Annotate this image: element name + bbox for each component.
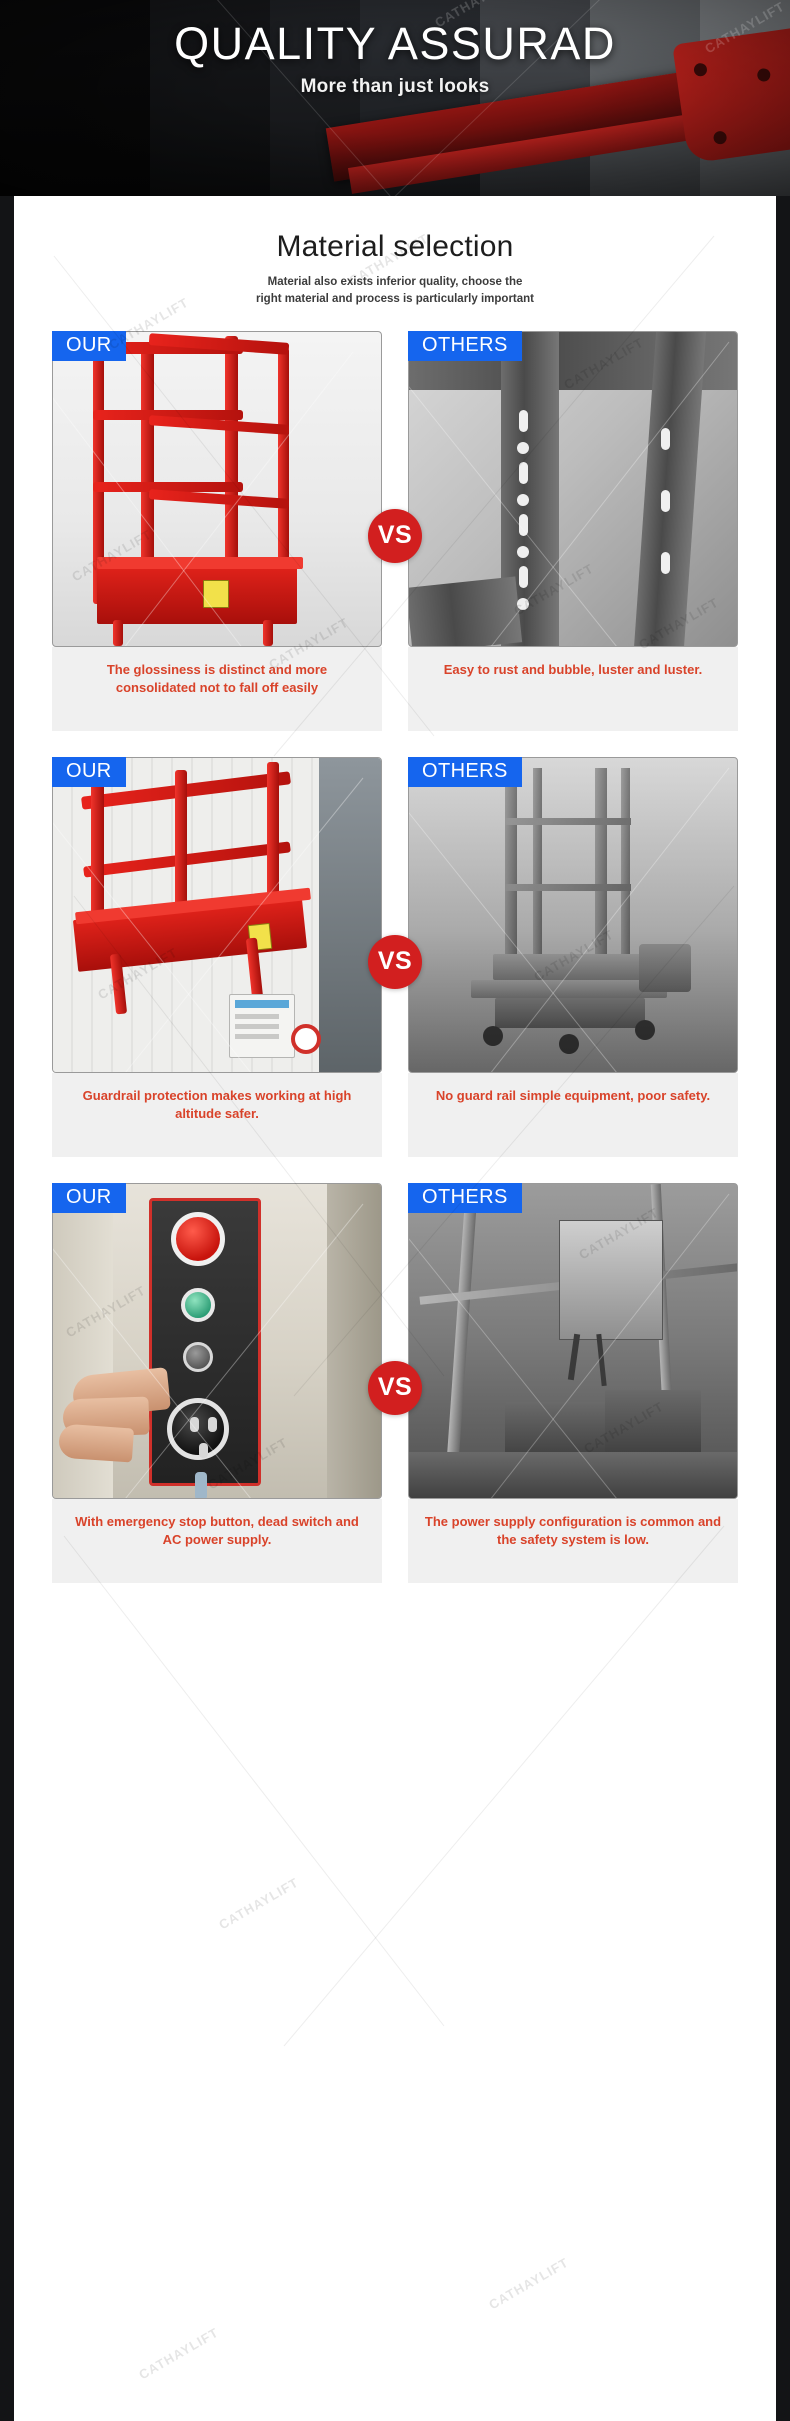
caption-our: Guardrail protection makes working at hi… <box>52 1073 382 1157</box>
caption-others: The power supply configuration is common… <box>408 1499 738 1583</box>
section-title: Material selection <box>14 230 776 264</box>
comparison-rows: VS OUR <box>14 331 776 1583</box>
product-photo-our: CATHAYLIFT <box>52 757 382 1073</box>
badge-others: OTHERS <box>408 1183 522 1213</box>
section-description-line1: Material also exists inferior quality, c… <box>268 276 523 288</box>
ac-socket-icon <box>167 1398 229 1460</box>
product-photo-our: CATHAYLIFT CATHAYLIFT <box>52 1183 382 1499</box>
comparison-row: VS OUR <box>14 331 776 731</box>
vs-badge: VS <box>368 509 422 563</box>
comparison-row: VS OUR CATHAYL <box>14 1183 776 1583</box>
others-column: OTHERS <box>408 331 738 731</box>
our-column: OUR <box>52 757 382 1157</box>
watermark: CATHAYLIFT <box>136 2325 221 2383</box>
green-button-icon <box>181 1288 215 1322</box>
product-photo-our: CATHAYLIFT <box>52 331 382 647</box>
caption-our: With emergency stop button, dead switch … <box>52 1499 382 1583</box>
our-column: OUR <box>52 331 382 731</box>
product-photo-others: CATHAYLIFT <box>408 757 738 1073</box>
hero-banner: QUALITY ASSURAD More than just looks CAT… <box>0 0 790 196</box>
vs-badge: VS <box>368 935 422 989</box>
key-switch-icon <box>183 1342 213 1372</box>
product-photo-others: CATHAYLIFT CATHAYLIFT <box>408 331 738 647</box>
our-column: OUR CATHAYLIFT CATHAYL <box>52 1183 382 1583</box>
section-description: Material also exists inferior quality, c… <box>185 274 605 309</box>
badge-our: OUR <box>52 331 126 361</box>
comparison-row: VS OUR <box>14 757 776 1157</box>
vs-badge: VS <box>368 1361 422 1415</box>
badge-others: OTHERS <box>408 757 522 787</box>
caption-others: No guard rail simple equipment, poor saf… <box>408 1073 738 1157</box>
watermark: CATHAYLIFT <box>216 1875 301 1933</box>
badge-others: OTHERS <box>408 331 522 361</box>
badge-our: OUR <box>52 757 126 787</box>
caption-others: Easy to rust and bubble, luster and lust… <box>408 647 738 731</box>
others-column: OTHERS CATHAYLIFT <box>408 1183 738 1583</box>
hero-title: QUALITY ASSURAD <box>0 18 790 70</box>
watermark: CATHAYLIFT <box>486 2255 571 2313</box>
emergency-stop-icon <box>171 1212 225 1266</box>
others-column: OTHERS <box>408 757 738 1157</box>
infographic-page: QUALITY ASSURAD More than just looks CAT… <box>0 0 790 2421</box>
hero-subtitle: More than just looks <box>0 76 790 98</box>
badge-our: OUR <box>52 1183 126 1213</box>
caption-our: The glossiness is distinct and more cons… <box>52 647 382 731</box>
content-card: Material selection Material also exists … <box>14 196 776 2421</box>
product-photo-others: CATHAYLIFT <box>408 1183 738 1499</box>
section-description-line2: right material and process is particular… <box>256 293 534 305</box>
